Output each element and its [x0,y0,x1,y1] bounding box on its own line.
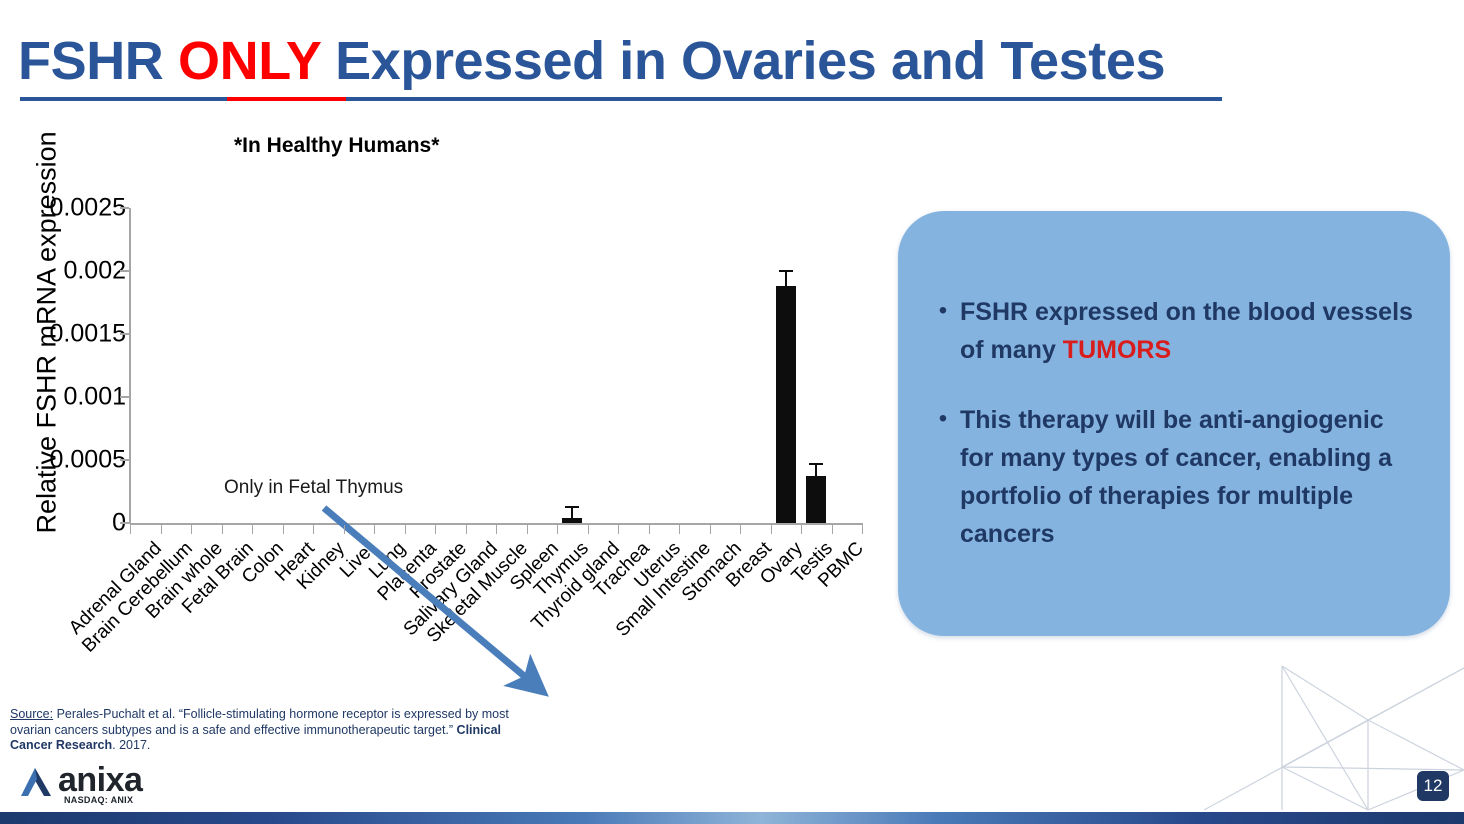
y-tick-label: 0.001 [4,383,126,412]
source-citation: Source: Perales-Puchalt et al. “Follicle… [10,707,530,754]
page-number-badge: 12 [1417,771,1449,801]
logo-ticker: NASDAQ: ANIX [64,795,133,805]
source-label: Source: [10,707,53,721]
title-part-3: Expressed in Ovaries and Testes [321,31,1166,91]
bullet-1-highlight: TUMORS [1063,336,1171,364]
x-tick-mark [344,525,345,534]
error-bar-cap [809,463,823,465]
callout-bullet-2: • This therapy will be anti-angiogenic f… [926,401,1416,553]
y-tick-mark [120,270,129,272]
bullet-1-pre: FSHR expressed on the blood vessels of m… [960,298,1413,364]
x-tick-mark [588,525,589,534]
x-tick-mark [405,525,406,534]
y-axis-ticks: 00.00050.0010.00150.0020.0025 [0,190,126,530]
error-bar [571,508,573,521]
slide-title-wrap: FSHR ONLY Expressed in Ovaries and Teste… [18,33,1165,90]
callout-bullet-2-text: This therapy will be anti-angiogenic for… [960,401,1416,553]
error-bar-cap [779,270,793,272]
y-tick-label: 0.0005 [4,446,126,475]
x-tick-mark [374,525,375,534]
x-tick-mark [801,525,802,534]
x-tick-mark [618,525,619,534]
x-tick-mark [527,525,528,534]
bullet-dot-icon: • [926,293,960,369]
x-tick-mark [771,525,772,534]
x-tick-mark [313,525,314,534]
source-text-a: Perales-Puchalt et al. “Follicle-stimula… [10,707,509,737]
bar [806,476,826,523]
x-tick-mark [740,525,741,534]
y-tick-label: 0 [4,509,126,538]
x-tick-mark [496,525,497,534]
x-tick-mark [191,525,192,534]
x-tick-mark [252,525,253,534]
y-tick-mark [120,522,129,524]
x-tick-mark [435,525,436,534]
y-tick-label: 0.0025 [4,194,126,223]
error-bar [815,465,817,479]
y-tick-label: 0.0015 [4,320,126,349]
x-tick-mark [130,525,131,534]
error-bar [785,272,787,289]
source-text-b: . 2017. [112,738,150,752]
y-tick-mark [120,333,129,335]
bullet-2-pre: This therapy will be anti-angiogenic for… [960,406,1392,548]
chart-subtitle: *In Healthy Humans* [234,134,439,158]
x-tick-mark [283,525,284,534]
y-tick-mark [120,396,129,398]
callout-bullet-1-text: FSHR expressed on the blood vessels of m… [960,293,1416,369]
x-tick-mark [222,525,223,534]
title-part-1: FSHR [18,31,178,91]
bottom-accent-bar [0,812,1464,824]
y-tick-mark [120,207,129,209]
x-tick-mark [466,525,467,534]
title-underline [20,97,1222,101]
x-tick-mark [649,525,650,534]
page-title: FSHR ONLY Expressed in Ovaries and Teste… [18,33,1165,90]
anixa-triangle-icon [18,766,58,798]
bullet-dot-icon: • [926,401,960,553]
x-tick-mark [862,525,863,534]
callout-bullet-1: • FSHR expressed on the blood vessels of… [926,293,1416,369]
company-logo: anixa NASDAQ: ANIX [18,764,188,810]
plot-area [130,208,862,523]
x-tick-mark [832,525,833,534]
y-tick-label: 0.002 [4,257,126,286]
bar [776,286,796,523]
x-tick-mark [557,525,558,534]
x-tick-mark [161,525,162,534]
bar-chart: Relative FSHR mRNA expression 00.00050.0… [0,190,890,670]
x-tick-mark [679,525,680,534]
y-tick-mark [120,459,129,461]
x-tick-mark [710,525,711,534]
title-part-only: ONLY [178,31,320,91]
callout-box: • FSHR expressed on the blood vessels of… [898,211,1450,636]
